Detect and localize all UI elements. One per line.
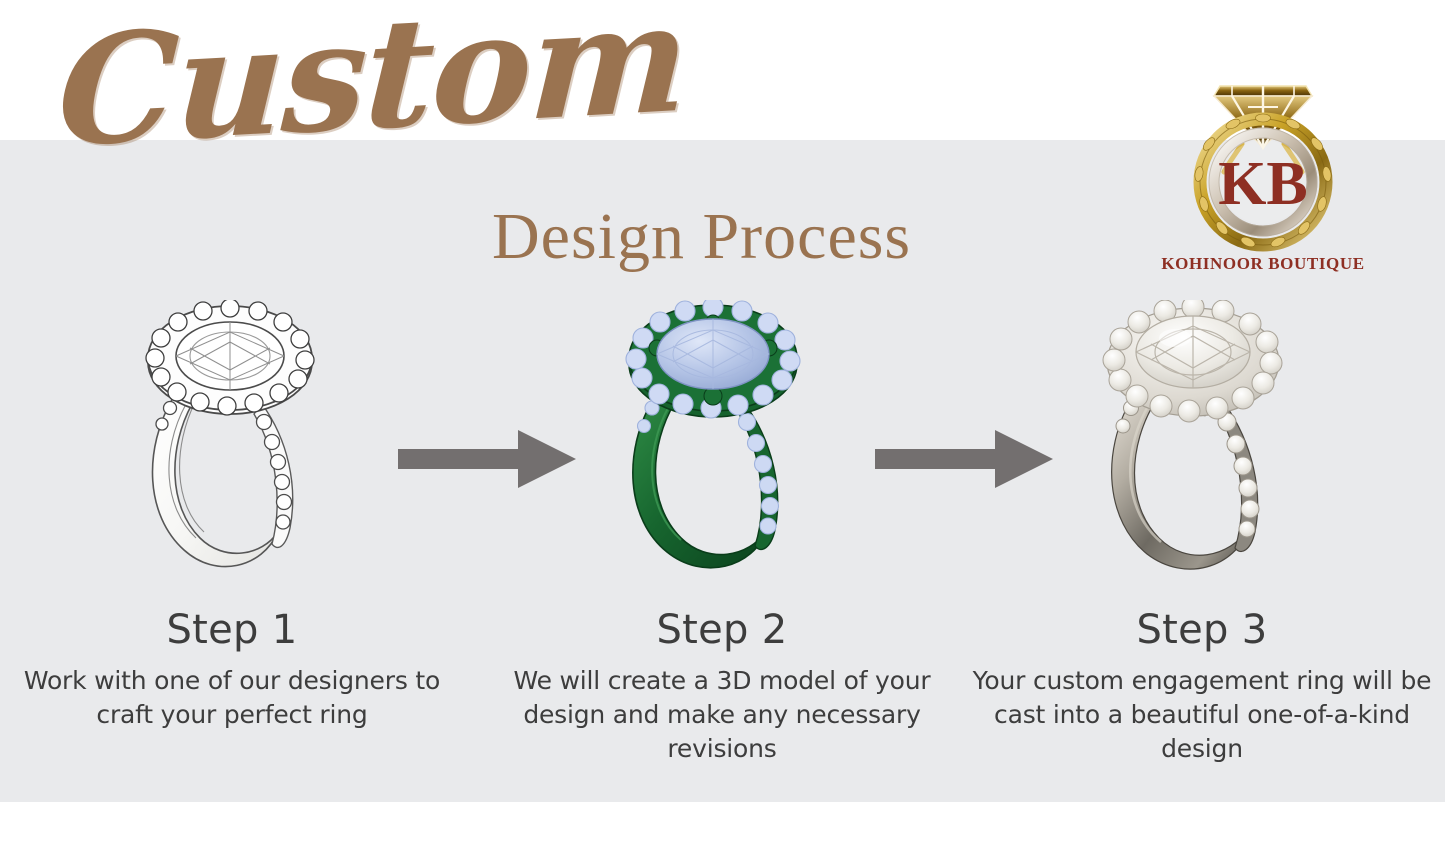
step-1-title: Step 1 <box>0 608 467 652</box>
ring-3d-cad-model-icon <box>595 300 845 585</box>
logo-wordmark: KOHINOOR BOUTIQUE <box>1148 254 1378 274</box>
headline-custom-script: Custom <box>55 0 690 168</box>
step-1-description: Work with one of our designers to craft … <box>0 664 467 732</box>
step-3-title: Step 3 <box>967 608 1437 652</box>
step-1-caption: Step 1 Work with one of our designers to… <box>0 608 467 732</box>
arrow-step-2-to-3 <box>875 428 1055 490</box>
step-2-caption: Step 2 We will create a 3D model of your… <box>487 608 957 765</box>
step-3-description: Your custom engagement ring will be cast… <box>967 664 1437 765</box>
headline-design-process: Design Process <box>492 204 911 270</box>
white-bottom-band <box>0 802 1445 848</box>
diamond-ring-laurel-icon: KB <box>1148 52 1378 262</box>
ring-sketch-line-art-icon <box>112 300 362 585</box>
right-arrow-icon <box>875 428 1055 490</box>
step-2-description: We will create a 3D model of your design… <box>487 664 957 765</box>
ring-finished-render-icon <box>1075 300 1325 585</box>
custom-design-process-infographic: Custom Design Process <box>0 0 1445 848</box>
step-3-artwork <box>1075 300 1325 585</box>
arrow-step-1-to-2 <box>398 428 578 490</box>
step-2-title: Step 2 <box>487 608 957 652</box>
step-3-caption: Step 3 Your custom engagement ring will … <box>967 608 1437 765</box>
kohinoor-boutique-logo: KB KOHINOOR BOUTIQUE <box>1148 52 1378 284</box>
step-2-artwork <box>595 300 845 585</box>
step-1-artwork <box>112 300 362 585</box>
steps-artwork-row <box>0 300 1445 590</box>
logo-monogram-text: KB <box>1218 150 1308 218</box>
right-arrow-icon <box>398 428 578 490</box>
